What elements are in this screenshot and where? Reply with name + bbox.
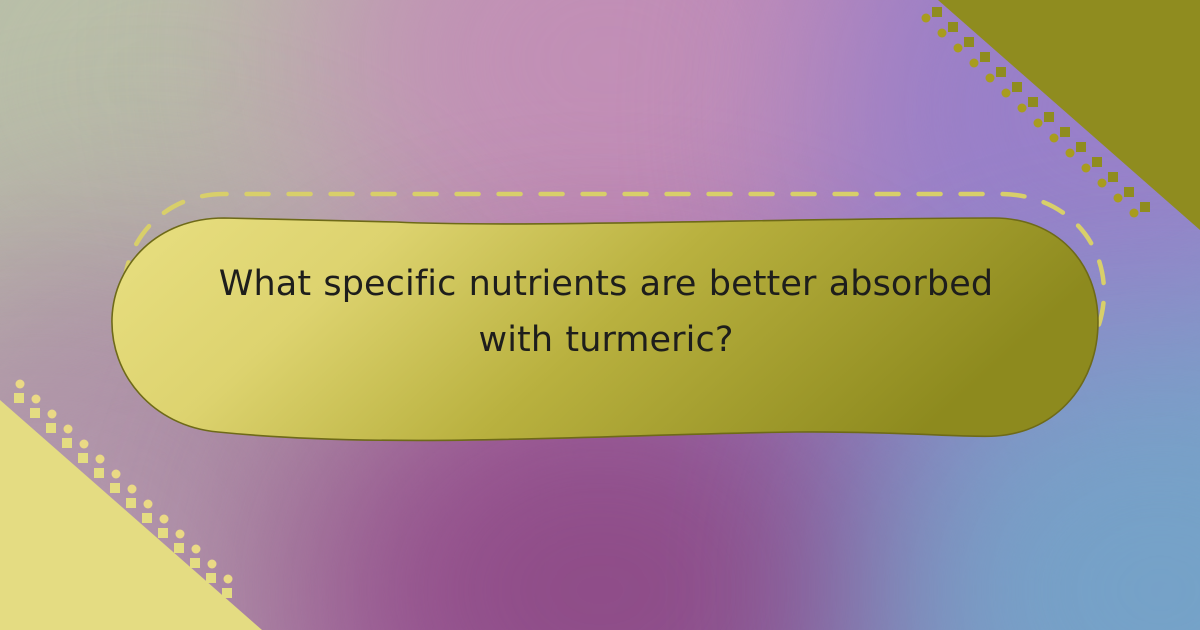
poster-stage: What specific nutrients are better absor…: [0, 0, 1200, 630]
question-card: What specific nutrients are better absor…: [96, 160, 1112, 460]
card-question-text: What specific nutrients are better absor…: [216, 256, 996, 368]
